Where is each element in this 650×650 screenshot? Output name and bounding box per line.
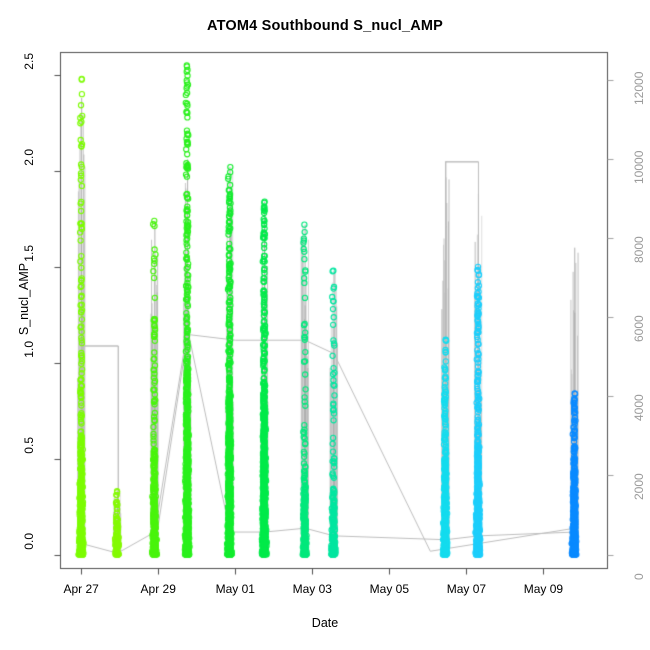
- scatter-plot-canvas: [0, 0, 650, 650]
- secondary-y-tick-label: 12000: [632, 53, 646, 105]
- plot-figure: ATOM4 Southbound S_nucl_AMP S_nucl_AMP D…: [0, 0, 650, 650]
- secondary-y-tick-label: 8000: [632, 211, 646, 263]
- y-tick-label: 2.5: [22, 53, 36, 95]
- y-tick-label: 0.5: [22, 437, 36, 479]
- x-tick-label: May 09: [508, 582, 578, 596]
- secondary-y-tick-label: 0: [632, 528, 646, 580]
- x-tick-label: May 01: [200, 582, 270, 596]
- x-tick-label: Apr 27: [46, 582, 116, 596]
- secondary-y-tick-label: 2000: [632, 448, 646, 500]
- y-tick-label: 2.0: [22, 149, 36, 191]
- x-tick-label: May 03: [277, 582, 347, 596]
- y-tick-label: 1.0: [22, 341, 36, 383]
- x-tick-label: May 05: [354, 582, 424, 596]
- x-tick-label: Apr 29: [123, 582, 193, 596]
- secondary-y-tick-label: 10000: [632, 132, 646, 184]
- secondary-y-tick-label: 4000: [632, 369, 646, 421]
- chart-title: ATOM4 Southbound S_nucl_AMP: [0, 18, 650, 34]
- y-tick-label: 1.5: [22, 245, 36, 287]
- y-tick-label: 0.0: [22, 533, 36, 575]
- secondary-y-tick-label: 6000: [632, 290, 646, 342]
- x-axis-title: Date: [0, 616, 650, 630]
- x-tick-label: May 07: [431, 582, 501, 596]
